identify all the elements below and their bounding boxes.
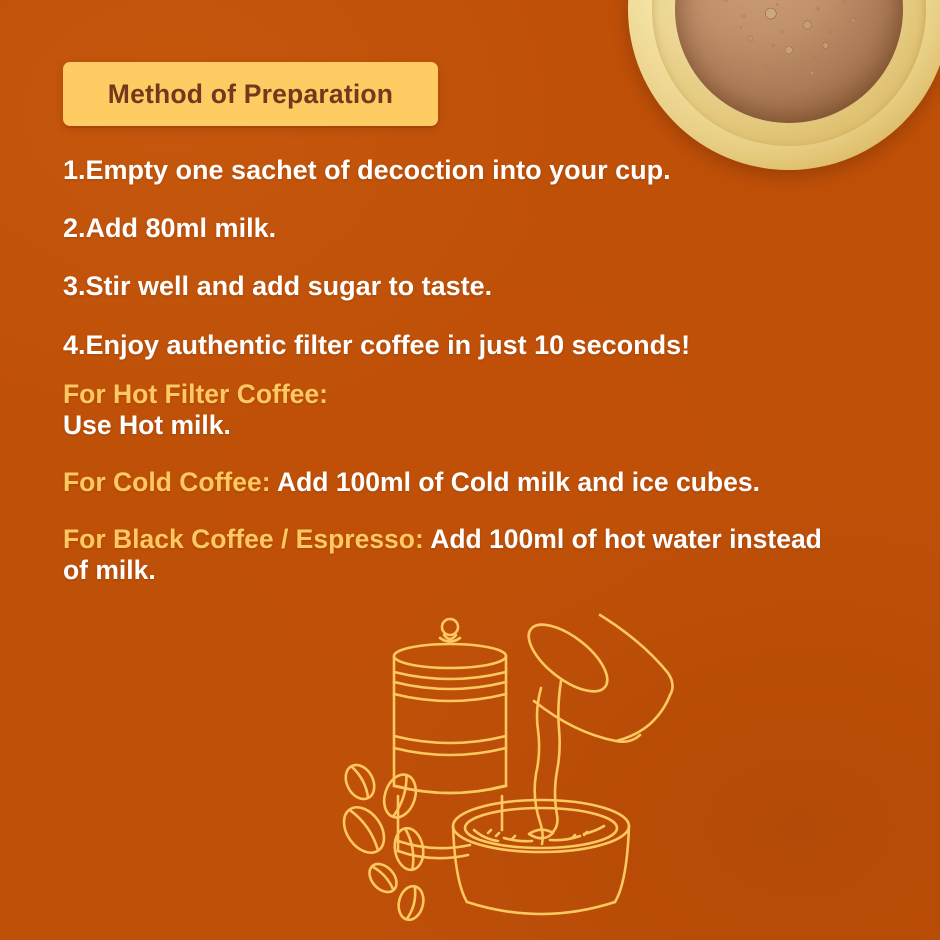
variant-label: For Cold Coffee: — [63, 467, 271, 497]
coffee-filter-cylinder — [394, 619, 506, 858]
coffee-variants-section: For Hot Filter Coffee:Use Hot milk. For … — [63, 379, 853, 612]
variant-body: Use Hot milk. — [63, 410, 231, 440]
coffee-beans — [336, 760, 427, 922]
preparation-steps-list: 1.Empty one sachet of decoction into you… — [63, 155, 863, 388]
variant-black-coffee-espresso: For Black Coffee / Espresso: Add 100ml o… — [63, 524, 853, 586]
list-item: 4.Enjoy authentic filter coffee in just … — [63, 330, 863, 360]
coffee-foam-highlight — [675, 0, 904, 123]
list-item: 2.Add 80ml milk. — [63, 213, 863, 243]
variant-label: For Black Coffee / Espresso: — [63, 524, 424, 554]
step-text: Stir well and add sugar to taste. — [86, 271, 493, 301]
step-number: 1. — [63, 155, 86, 185]
variant-cold-coffee: For Cold Coffee: Add 100ml of Cold milk … — [63, 467, 853, 498]
cup-rim — [652, 0, 926, 146]
filter-coffee-illustration — [336, 606, 708, 936]
cup-saucer — [628, 0, 940, 170]
step-number: 2. — [63, 213, 86, 243]
step-number: 3. — [63, 271, 86, 301]
dabara-bowl — [453, 800, 629, 914]
list-item: 1.Empty one sachet of decoction into you… — [63, 155, 863, 185]
coffee-foam-bubbles — [675, 0, 904, 123]
variant-hot-filter-coffee: For Hot Filter Coffee:Use Hot milk. — [63, 379, 853, 441]
variant-label: For Hot Filter Coffee: — [63, 379, 853, 410]
step-number: 4. — [63, 330, 86, 360]
pouring-tumbler — [518, 613, 673, 742]
page-title: Method of Preparation — [108, 79, 393, 110]
step-text: Enjoy authentic filter coffee in just 10… — [86, 330, 691, 360]
recipe-poster: Method of Preparation 1.Empty one sachet… — [0, 0, 940, 940]
pouring-stream — [535, 681, 561, 844]
list-item: 3.Stir well and add sugar to taste. — [63, 271, 863, 301]
coffee-cup-photo — [628, 0, 940, 170]
method-heading-badge: Method of Preparation — [63, 62, 438, 126]
step-text: Add 80ml milk. — [86, 213, 277, 243]
cup-coffee-liquid — [675, 0, 904, 123]
step-text: Empty one sachet of decoction into your … — [86, 155, 671, 185]
variant-body: Add 100ml of Cold milk and ice cubes. — [271, 467, 760, 497]
